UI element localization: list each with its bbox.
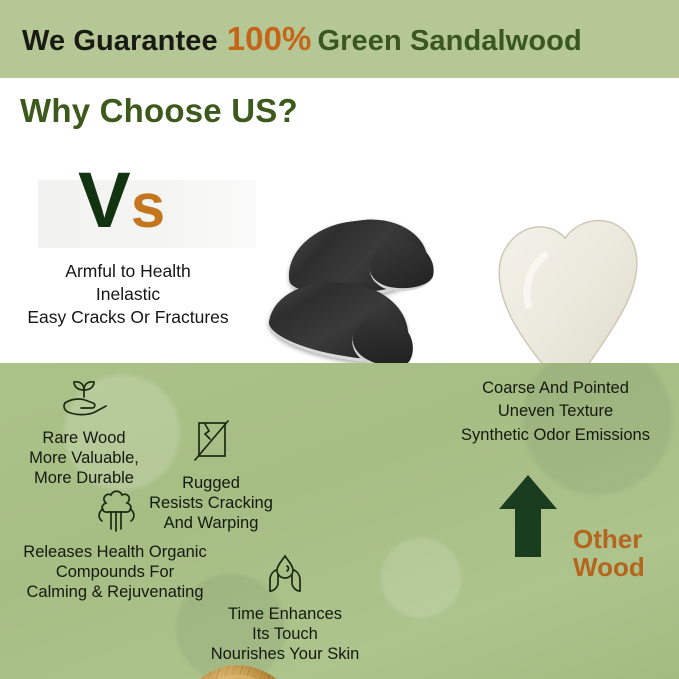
hand-sprout-icon bbox=[0, 377, 172, 424]
vs-letter-v: V bbox=[78, 155, 131, 244]
vs-letter-s: s bbox=[131, 172, 165, 241]
header-text-group: We Guarantee100%Green Sandalwood bbox=[22, 20, 582, 58]
benefit-line: Its Touch bbox=[180, 624, 390, 644]
drawback-line: Uneven Texture bbox=[432, 400, 679, 423]
benefit-time-enhances: Time Enhances Its Touch Nourishes Your S… bbox=[180, 553, 390, 664]
benefit-line: Time Enhances bbox=[180, 604, 390, 624]
crack-resist-icon bbox=[116, 418, 306, 469]
other-wood-label: Other Wood bbox=[573, 525, 645, 581]
aroma-tree-icon bbox=[0, 487, 240, 538]
header-we-guarantee: We Guarantee bbox=[22, 25, 218, 57]
infographic-page: We Guarantee100%Green Sandalwood Why Cho… bbox=[0, 0, 679, 679]
drawback-line: Easy Cracks Or Fractures bbox=[6, 306, 250, 329]
header-product-name: Green Sandalwood bbox=[318, 25, 582, 57]
drawback-line: Synthetic Odor Emissions bbox=[432, 424, 679, 447]
guarantee-header-band: We Guarantee100%Green Sandalwood bbox=[0, 0, 679, 78]
header-percent: 100% bbox=[218, 20, 318, 57]
benefits-section: Rare Wood More Valuable, More Durable Ru… bbox=[0, 363, 679, 679]
cream-heart-gua-sha bbox=[487, 208, 647, 363]
up-arrow-icon bbox=[497, 473, 559, 564]
other-wood-line1: Other bbox=[573, 525, 645, 553]
other-wood-line2: Wood bbox=[573, 553, 645, 581]
drawback-line: Coarse And Pointed bbox=[432, 377, 679, 400]
comparison-section: Why Choose US? Vs Armful to Health Inela… bbox=[0, 78, 679, 363]
hands-droplet-icon bbox=[180, 553, 390, 600]
vs-label: Vs bbox=[78, 160, 165, 239]
drawback-line: Inelastic bbox=[6, 283, 250, 306]
competitor-drawbacks-list: Armful to Health Inelastic Easy Cracks O… bbox=[6, 260, 250, 328]
why-choose-us-title: Why Choose US? bbox=[20, 92, 298, 130]
drawback-line: Armful to Health bbox=[6, 260, 250, 283]
other-wood-drawbacks: Coarse And Pointed Uneven Texture Synthe… bbox=[432, 377, 679, 447]
